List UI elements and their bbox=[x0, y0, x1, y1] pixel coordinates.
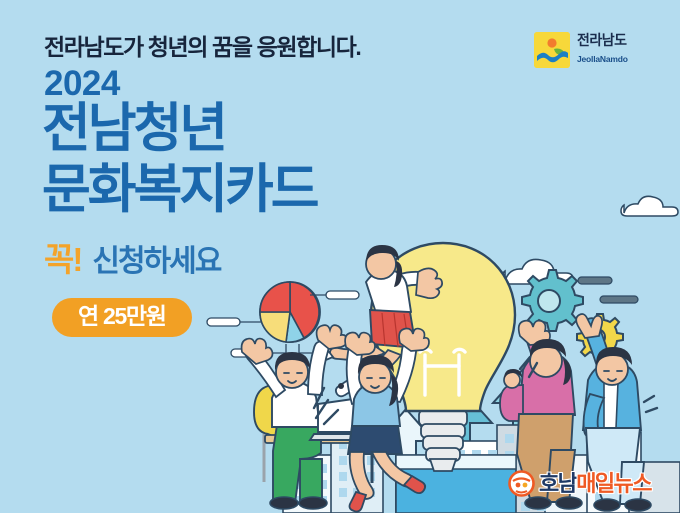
pie-chart bbox=[260, 282, 320, 342]
tagline: 전라남도가 청년의 꿈을 응원합니다. bbox=[44, 28, 360, 62]
cta-emphasis: 꼭! bbox=[44, 243, 81, 276]
logo-name-en: JeollaNamdo bbox=[577, 54, 628, 64]
headline-line-1: 전남청년 bbox=[42, 102, 225, 155]
cta-text: 꼭! 신청하세요 bbox=[44, 243, 220, 277]
jeollanamdo-logo: 전라남도 JeollaNamdo bbox=[534, 32, 680, 68]
cta-rest: 신청하세요 bbox=[92, 247, 220, 277]
watermark-text-part1: 호남 bbox=[539, 471, 576, 496]
logo-name-kr: 전라남도 bbox=[577, 32, 627, 48]
headline-line-2: 문화복지카드 bbox=[42, 163, 317, 216]
honam-daily-news-logo-icon bbox=[508, 470, 535, 497]
promotional-poster: 전라남도 JeollaNamdo 전라남도가 청년의 꿈을 응원합니다. 202… bbox=[0, 0, 680, 513]
year-label: 2024 bbox=[44, 66, 120, 101]
amount-badge: 연 25만원 bbox=[52, 298, 192, 337]
jeollanamdo-logo-text: 전라남도 JeollaNamdo bbox=[577, 33, 680, 67]
watermark: 호남매일뉴스 bbox=[508, 470, 651, 497]
watermark-text-part2: 매일뉴스 bbox=[576, 471, 651, 496]
watermark-text: 호남매일뉴스 bbox=[539, 473, 651, 495]
jeollanamdo-emblem-icon bbox=[534, 32, 570, 68]
